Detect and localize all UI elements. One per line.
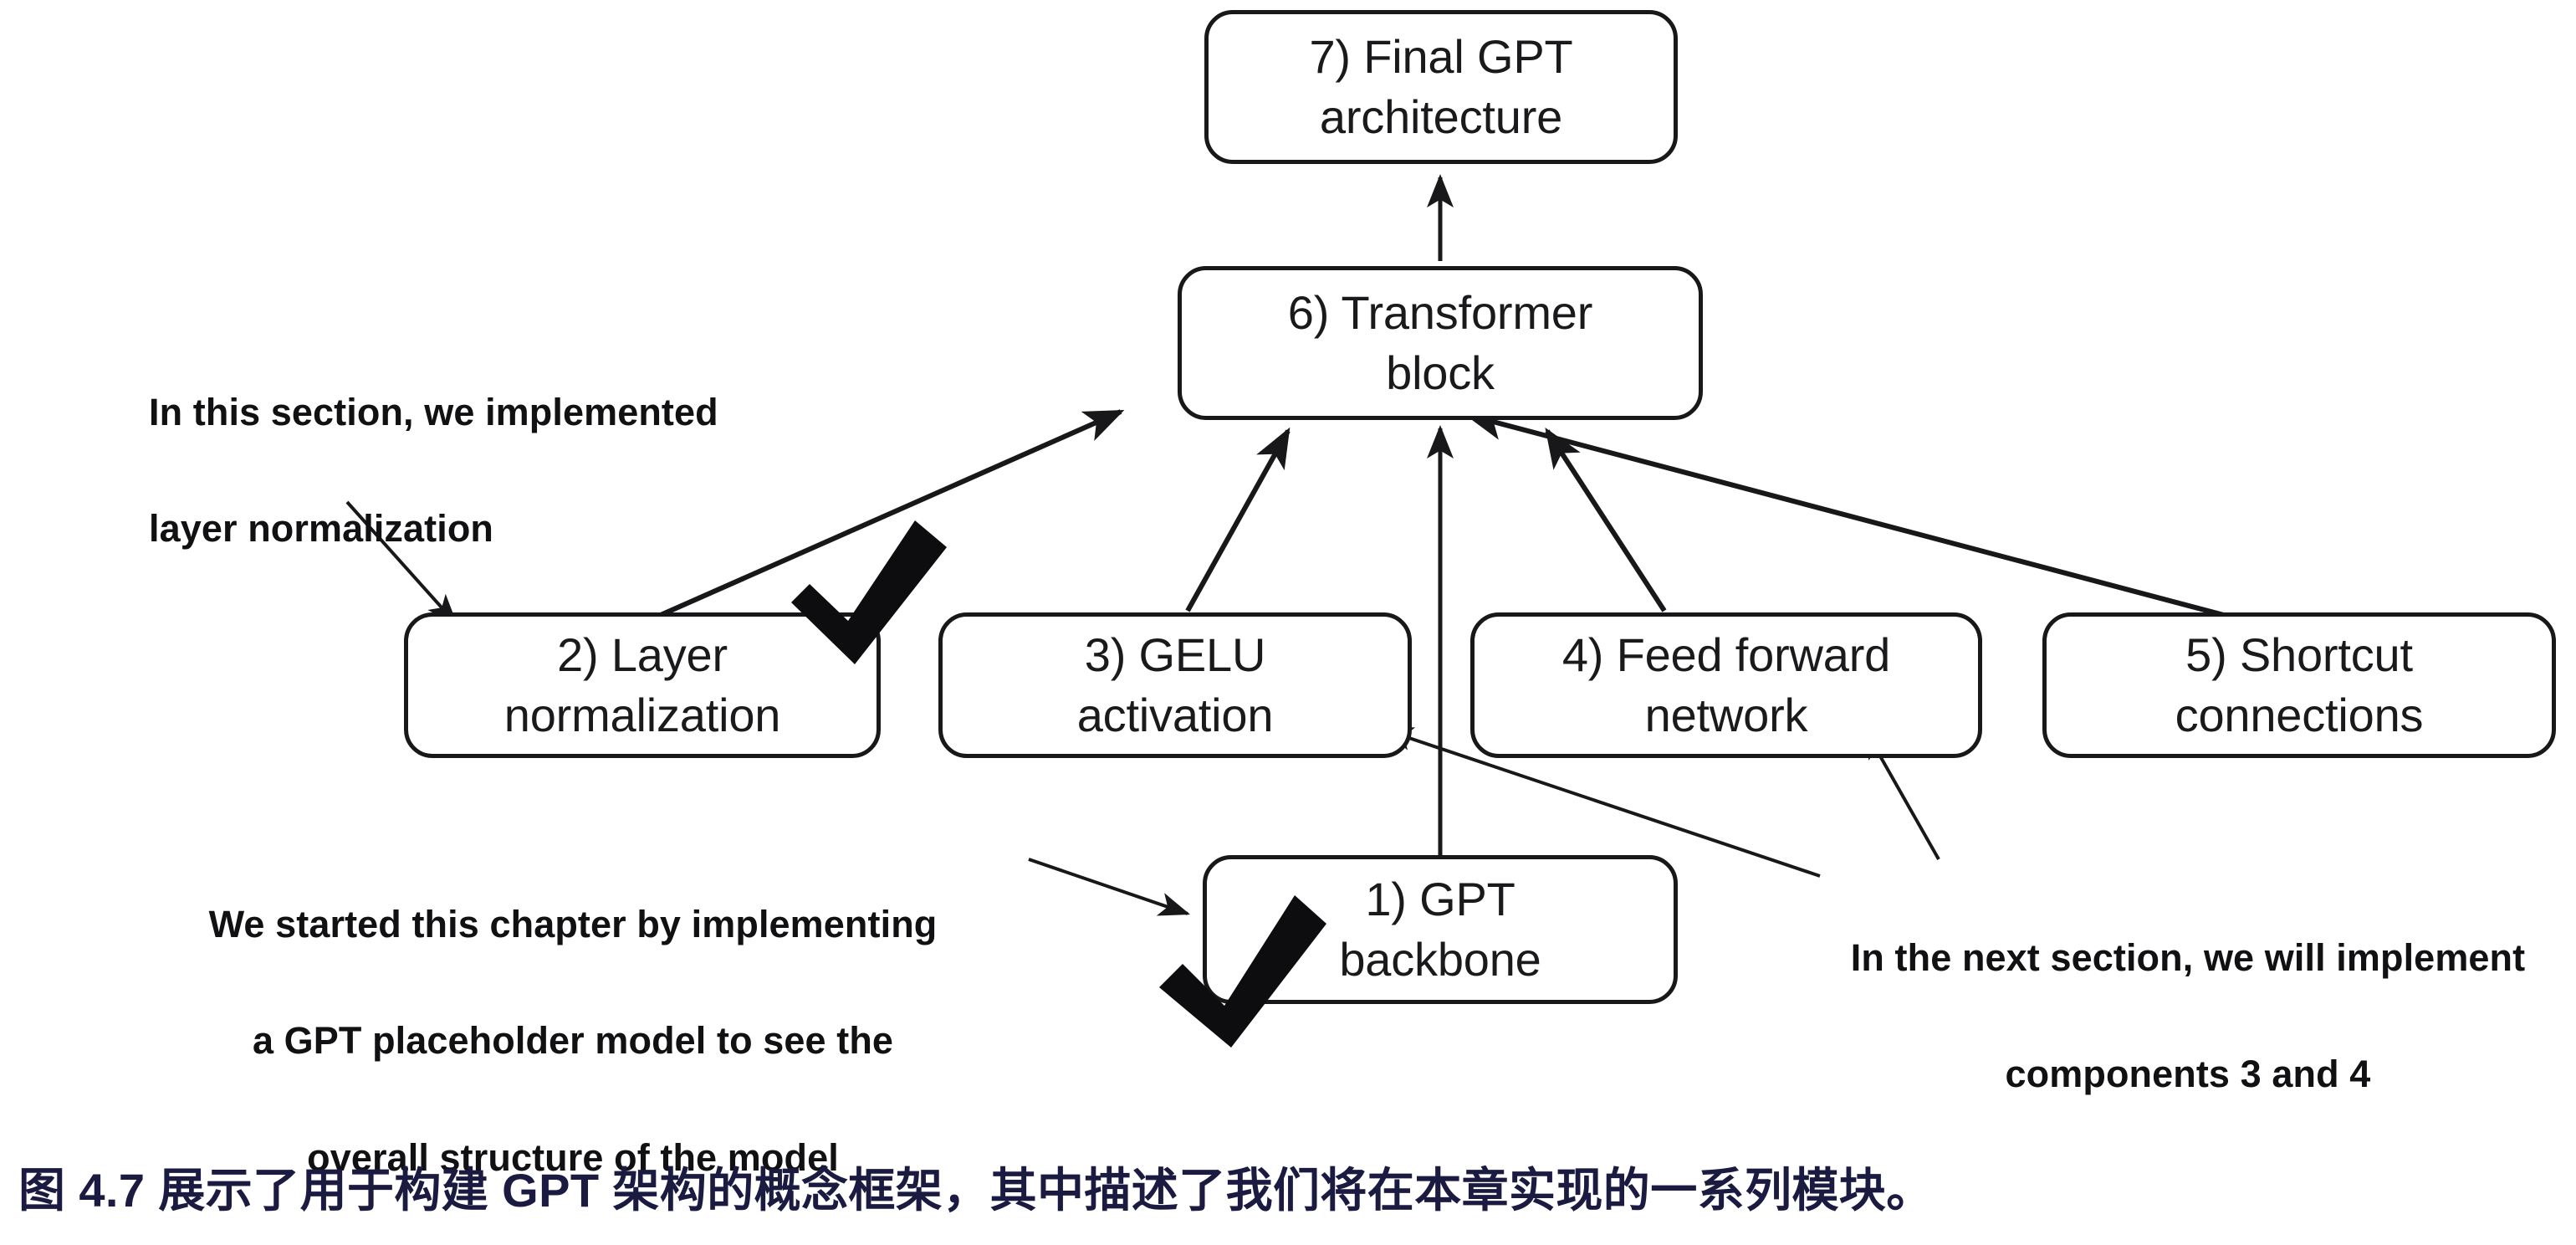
annotation-line-1: In this section, we implemented [149, 383, 768, 442]
node-label-line1: 4) Feed forward [1562, 625, 1890, 685]
node-label-line2: activation [1077, 685, 1274, 745]
check-icon-gpt-backbone [1147, 880, 1340, 1061]
annotation-line-2: a GPT placeholder model to see the [142, 1012, 1004, 1070]
node-label-line1: 2) Layer [557, 625, 728, 685]
node-feed-forward-network[interactable]: 4) Feed forward network [1470, 612, 1982, 758]
annotation-line-2: components 3 and 4 [1812, 1045, 2564, 1104]
check-icon-layer-normalization [776, 509, 969, 676]
edge-shortcut-to-transformer [1468, 415, 2233, 617]
figure-caption: 图 4.7 展示了用于构建 GPT 架构的概念框架，其中描述了我们将在本章实现的… [18, 1153, 2561, 1221]
annotation-line-2: layer normalization [149, 500, 768, 558]
node-final-gpt-architecture[interactable]: 7) Final GPT architecture [1204, 10, 1678, 164]
annotation-next-section: In the next section, we will implement c… [1812, 870, 2564, 1162]
node-transformer-block[interactable]: 6) Transformer block [1178, 266, 1703, 420]
edge-feedforward-to-transformer [1547, 431, 1664, 611]
node-gelu-activation[interactable]: 3) GELU activation [938, 612, 1412, 758]
edge-gelu-to-transformer [1188, 431, 1288, 611]
node-shortcut-connections[interactable]: 5) Shortcut connections [2042, 612, 2556, 758]
node-label-line1: 1) GPT [1365, 869, 1515, 930]
figure-canvas: 7) Final GPT architecture 6) Transformer… [0, 0, 2576, 1243]
node-label-line2: backbone [1339, 930, 1541, 990]
node-label-line2: architecture [1320, 87, 1562, 147]
annotation-line-1: We started this chapter by implementing [142, 895, 1004, 954]
annotation-layer-normalization: In this section, we implemented layer no… [149, 325, 768, 617]
node-label-line2: network [1645, 685, 1808, 745]
node-label-line2: block [1386, 343, 1495, 403]
node-label-line2: connections [2175, 685, 2424, 745]
node-label-line1: 3) GELU [1085, 625, 1265, 685]
annotation-line-1: In the next section, we will implement [1812, 929, 2564, 987]
node-label-line1: 7) Final GPT [1309, 27, 1572, 87]
node-label-line1: 6) Transformer [1288, 283, 1592, 343]
node-label-line2: normalization [504, 685, 780, 745]
node-label-line1: 5) Shortcut [2185, 625, 2413, 685]
